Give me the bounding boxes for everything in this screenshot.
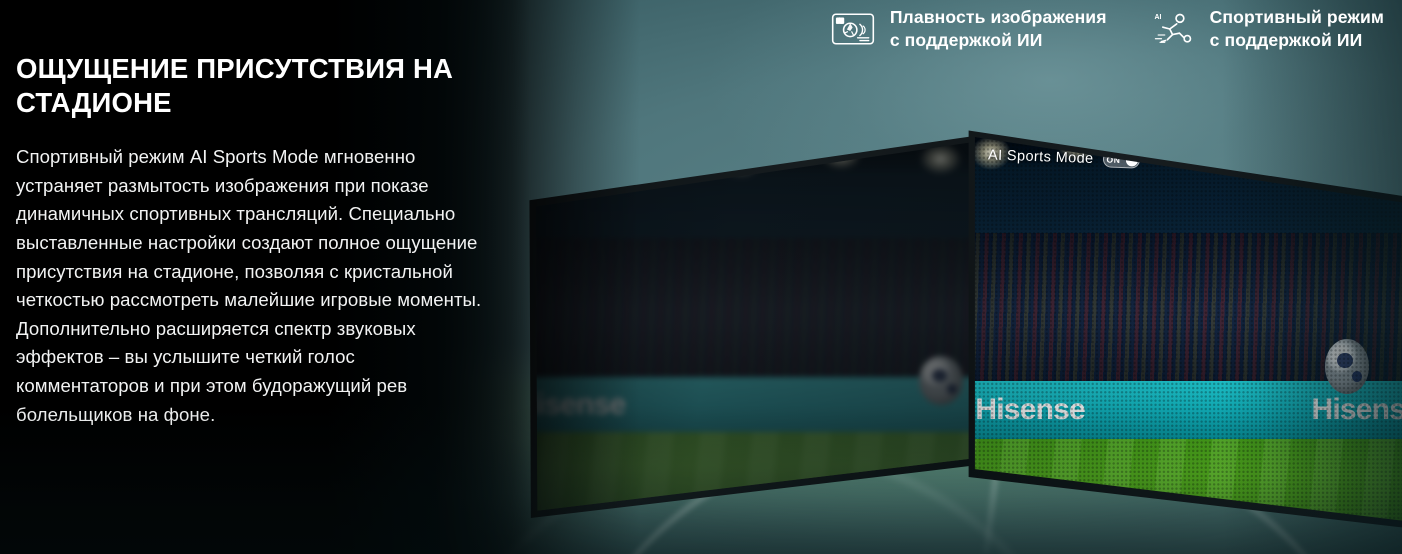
page-title: ОЩУЩЕНИЕ ПРИСУТСТВИЯ НА СТАДИОНЕ [16,52,486,119]
badge-label-sports-mode: Спортивный режим с поддержкой ИИ [1210,6,1384,51]
feature-badges: AI Плавность изображения с поддержкой ИИ… [829,6,1384,51]
badge-ai-motion-smoothness: AI Плавность изображения с поддержкой ИИ [829,6,1107,51]
badge-ai-sports-mode: AI Спортивный режим с поддержкой ИИ [1149,6,1384,51]
body-paragraph: Спортивный режим AI Sports Mode мгновенн… [16,143,486,429]
svg-text:AI: AI [1154,13,1161,20]
badge-label-motion-smoothness: Плавность изображения с поддержкой ИИ [890,6,1107,51]
right-edge-vignette [1222,0,1402,554]
promo-banner: Hisense 14 [0,0,1402,554]
svg-text:AI: AI [837,18,843,24]
copy-block: ОЩУЩЕНИЕ ПРИСУТСТВИЯ НА СТАДИОНЕ Спортив… [16,52,486,429]
bottom-fade [0,404,1402,554]
ai-sports-mode-runner-icon: AI [1149,9,1197,49]
ai-motion-smoothness-icon: AI [829,9,877,49]
